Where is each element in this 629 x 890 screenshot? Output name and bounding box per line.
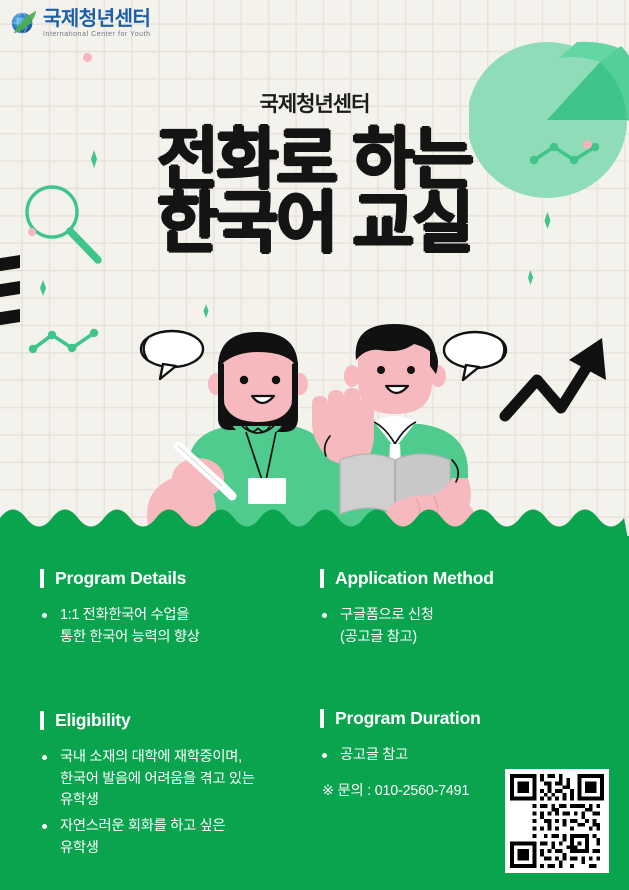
- pink-dot-decoration: [83, 53, 92, 62]
- heading-bar-icon: [40, 711, 44, 730]
- heading-text: Eligibility: [55, 710, 131, 731]
- logo-korean-name: 국제청년센터: [43, 9, 151, 29]
- speech-bubble-left: [141, 331, 203, 379]
- bullet-list: 국내 소재의 대학에 재학중이며, 한국어 발음에 어려움을 겪고 있는 유학생…: [40, 747, 315, 860]
- organization-logo: 국제청년센터 International Center for Youth: [9, 8, 151, 38]
- title-line-1: 전화로 하는: [0, 128, 629, 192]
- heading-bar-icon: [320, 709, 324, 728]
- section-eligibility: Eligibility 국내 소재의 대학에 재학중이며, 한국어 발음에 어려…: [40, 710, 315, 864]
- info-panel: Program Details 1:1 전화한국어 수업을 통한 한국어 능력의…: [0, 498, 629, 890]
- section-heading: Eligibility: [40, 710, 315, 731]
- bullet-list: 공고글 참고: [320, 745, 610, 767]
- list-item: 1:1 전화한국어 수업을 통한 한국어 능력의 향상: [40, 605, 310, 648]
- diamond-sparkle-icon: [524, 270, 537, 285]
- heading-bar-icon: [40, 569, 44, 588]
- qr-code-image: [510, 774, 604, 868]
- globe-icon: [9, 8, 39, 38]
- section-heading: Program Duration: [320, 708, 610, 729]
- diamond-sparkle-icon: [36, 280, 50, 296]
- section-program-details: Program Details 1:1 전화한국어 수업을 통한 한국어 능력의…: [40, 568, 310, 652]
- eyebrow-text: 국제청년센터: [0, 88, 629, 118]
- bullet-list: 구글폼으로 신청 (공고글 참고): [320, 605, 610, 648]
- heading-bar-icon: [320, 569, 324, 588]
- section-application-method: Application Method 구글폼으로 신청 (공고글 참고): [320, 568, 610, 652]
- diamond-sparkle-icon: [200, 304, 212, 318]
- poster: 국제청년센터 International Center for Youth 국제…: [0, 0, 629, 890]
- list-item: 구글폼으로 신청 (공고글 참고): [320, 605, 610, 648]
- section-heading: Application Method: [320, 568, 610, 589]
- heading-text: Program Details: [55, 568, 186, 589]
- page-title: 전화로 하는 한국어 교실: [0, 128, 629, 257]
- speech-bubble-right: [444, 332, 506, 380]
- bullet-list: 1:1 전화한국어 수업을 통한 한국어 능력의 향상: [40, 605, 310, 648]
- title-line-2: 한국어 교실: [0, 192, 629, 256]
- list-item: 국내 소재의 대학에 재학중이며, 한국어 발음에 어려움을 겪고 있는 유학생: [40, 747, 315, 812]
- logo-english-name: International Center for Youth: [43, 31, 151, 38]
- list-item: 자연스러운 회화를 하고 싶은 유학생: [40, 816, 315, 859]
- list-item: 공고글 참고: [320, 745, 610, 767]
- heading-text: Program Duration: [335, 708, 481, 729]
- qr-code[interactable]: [505, 769, 609, 873]
- heading-text: Application Method: [335, 568, 494, 589]
- section-heading: Program Details: [40, 568, 310, 589]
